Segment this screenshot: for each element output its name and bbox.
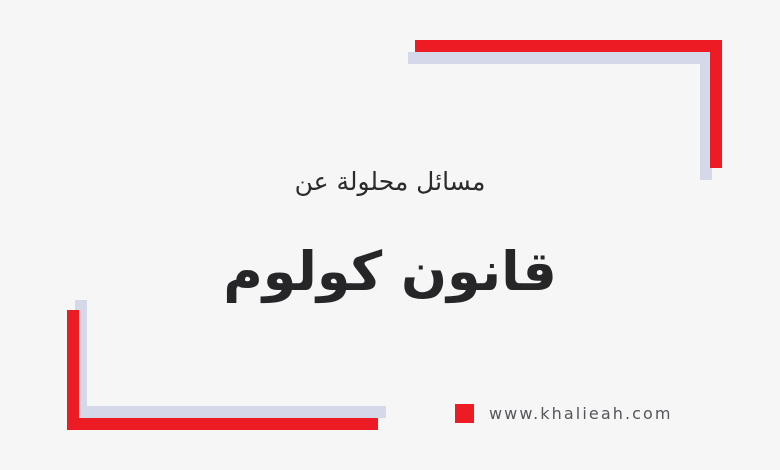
bracket-top-right-red-horizontal: [415, 40, 722, 52]
page-title: قانون كولوم: [223, 240, 557, 305]
title-card-canvas: مسائل محلولة عن قانون كولوم www.khalieah…: [0, 0, 780, 470]
heading-stack: مسائل محلولة عن قانون كولوم: [0, 0, 780, 470]
bracket-top-right-red-vertical: [710, 40, 722, 168]
bracket-top-right-shadow-horizontal: [408, 52, 712, 64]
bracket-bottom-left-shadow-horizontal: [75, 406, 386, 418]
bracket-bottom-left-red-vertical: [67, 310, 79, 430]
bracket-bottom-left-red-horizontal: [67, 418, 378, 430]
website-url: www.khalieah.com: [489, 406, 673, 422]
red-square-icon: [455, 404, 474, 423]
subtitle: مسائل محلولة عن: [295, 165, 486, 199]
website-credit: www.khalieah.com: [455, 404, 673, 423]
